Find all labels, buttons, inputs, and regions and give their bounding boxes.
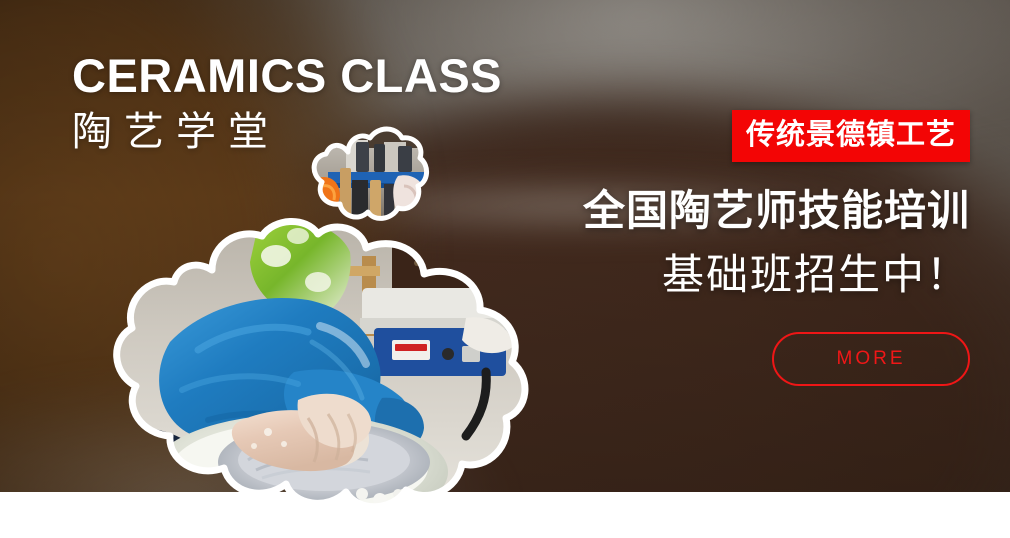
cta-row: MORE xyxy=(540,332,970,386)
cloud-photo-large-content xyxy=(62,221,532,530)
status-badge: 传统景德镇工艺 xyxy=(732,110,970,162)
page-title-english: CERAMICS CLASS xyxy=(72,52,502,101)
ceramics-class-banner: CERAMICS CLASS 陶艺学堂 传统景德镇工艺 全国陶艺师技能培训 基础… xyxy=(0,0,1010,538)
cloud-photo-large xyxy=(62,222,532,512)
cloud-photo-large-svg xyxy=(62,222,532,512)
promo-block: 传统景德镇工艺 全国陶艺师技能培训 基础班招生中！ MORE xyxy=(540,110,970,386)
more-button[interactable]: MORE xyxy=(772,332,970,386)
promo-headline-secondary: 基础班招生中！ xyxy=(540,252,970,298)
headline-block: CERAMICS CLASS 陶艺学堂 xyxy=(72,52,502,156)
promo-headline-primary: 全国陶艺师技能培训 xyxy=(540,188,970,234)
page-title-chinese: 陶艺学堂 xyxy=(72,109,502,156)
